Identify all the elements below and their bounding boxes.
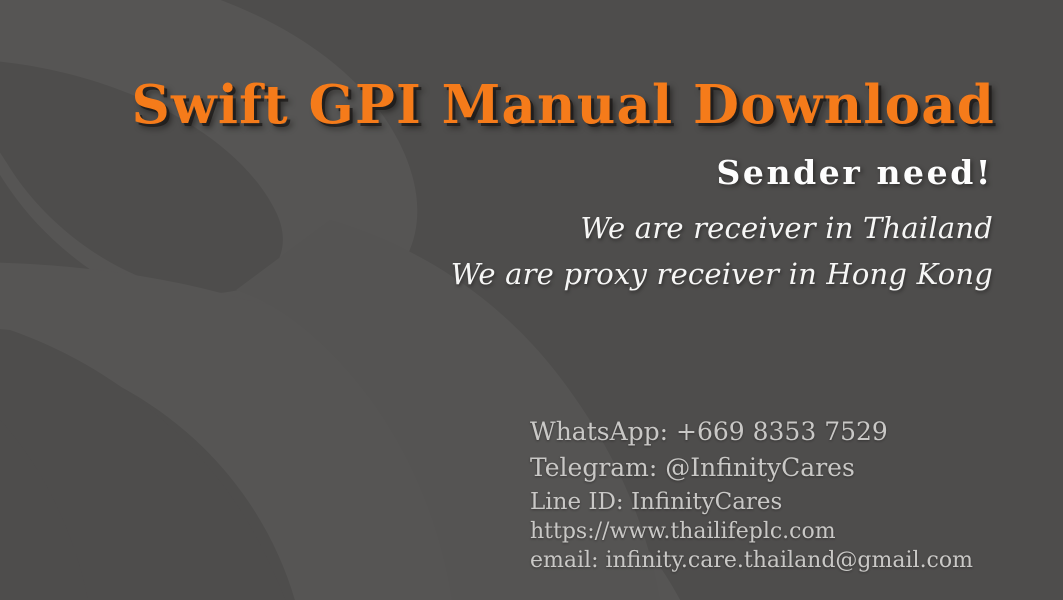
watermark-leg-carve <box>0 318 292 600</box>
contact-line-email[interactable]: email: infinity.care.thailand@gmail.com <box>530 546 973 575</box>
contact-line-whatsapp: WhatsApp: +669 8353 7529 <box>530 415 973 451</box>
headline-row: Swift GPI Manual Download <box>0 78 995 132</box>
script-lines-block: We are receiver in Thailand We are proxy… <box>0 208 993 300</box>
poster-canvas: Swift GPI Manual Download Sender need! W… <box>0 0 1063 600</box>
subhead-row: Sender need! <box>0 156 993 191</box>
contact-line-telegram: Telegram: @InfinityCares <box>530 451 973 487</box>
contact-block: WhatsApp: +669 8353 7529 Telegram: @Infi… <box>530 415 973 575</box>
contact-line-line-id: Line ID: InfinityCares <box>530 487 973 517</box>
subtitle: Sender need! <box>716 156 993 191</box>
script-line-receiver-thailand: We are receiver in Thailand <box>0 208 993 248</box>
contact-line-website[interactable]: https://www.thailifeplc.com <box>530 517 973 546</box>
page-title: Swift GPI Manual Download <box>132 78 995 132</box>
script-line-proxy-hong-kong: We are proxy receiver in Hong Kong <box>0 254 993 294</box>
